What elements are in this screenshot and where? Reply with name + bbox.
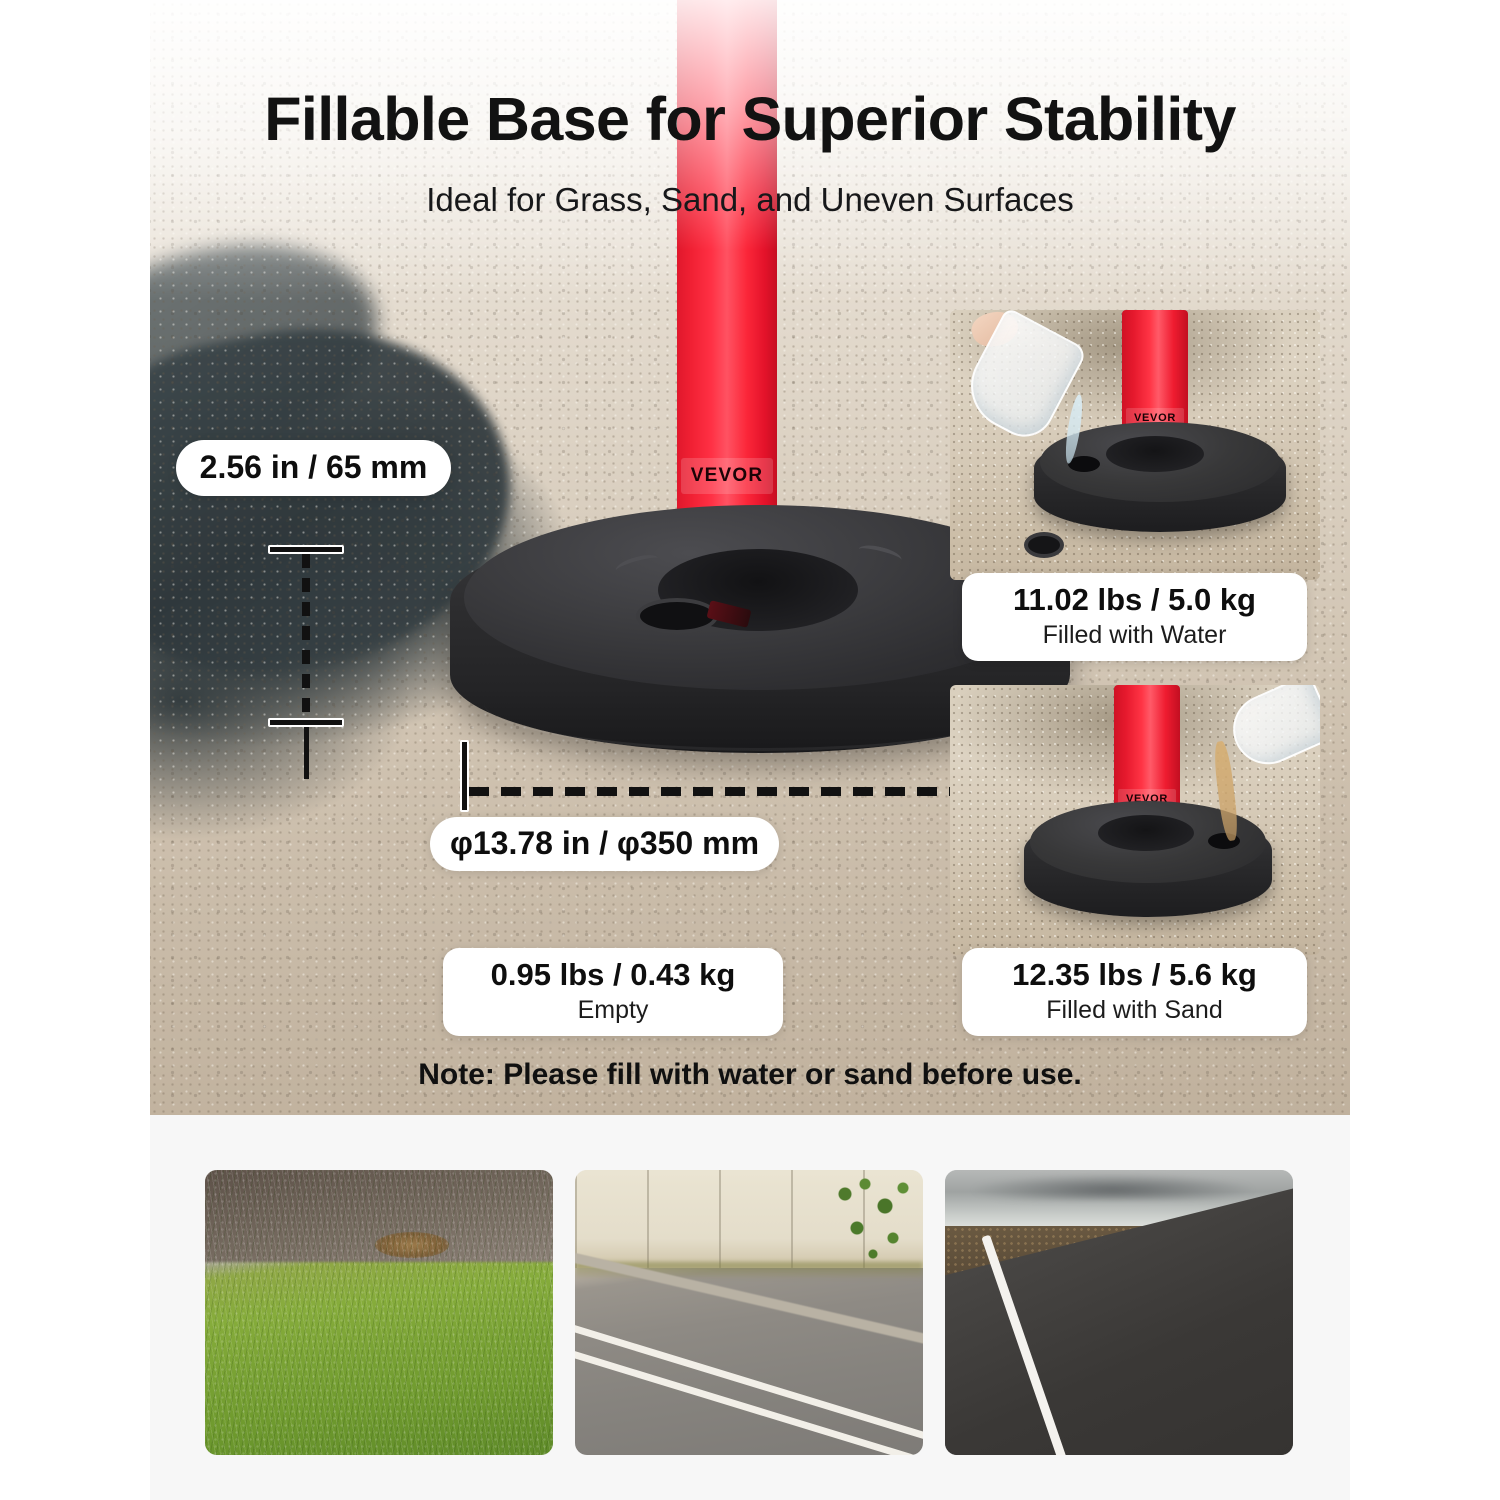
thumbnail-grass-shoulder — [205, 1170, 553, 1262]
callout-diameter: φ13.78 in / φ350 mm — [430, 817, 779, 871]
callout-weight-sand: 12.35 lbs / 5.6 kg Filled with Sand — [962, 948, 1307, 1036]
diameter-dimension-cap-left — [460, 740, 469, 812]
callout-weight-empty: 0.95 lbs / 0.43 kg Empty — [443, 948, 783, 1036]
callout-weight-water: 11.02 lbs / 5.0 kg Filled with Water — [962, 573, 1307, 661]
thumbnail-road-line-outer — [575, 1319, 923, 1455]
vevor-logo: VEVOR — [681, 458, 773, 494]
callout-weight-sand-value: 12.35 lbs / 5.6 kg — [1012, 959, 1257, 992]
hero-subtitle: Ideal for Grass, Sand, and Uneven Surfac… — [150, 181, 1350, 219]
hero-note: Note: Please fill with water or sand bef… — [150, 1058, 1350, 1092]
thumbnail-cloud — [973, 1174, 1253, 1200]
thumbnail-roadside-wall[interactable] — [575, 1170, 923, 1455]
inset-sand-post-socket — [1098, 815, 1194, 851]
callout-weight-water-value: 11.02 lbs / 5.0 kg — [1013, 584, 1256, 617]
thumbnail-road-line-inner — [575, 1345, 923, 1455]
inset-water-removed-cap — [1024, 532, 1064, 558]
inset-water-post-socket — [1106, 436, 1204, 472]
height-dimension-line — [268, 545, 344, 727]
product-infographic: VEVOR Fillable Base for Superior — [0, 0, 1500, 1500]
thumbnail-grass[interactable] — [205, 1170, 553, 1455]
thumbnail-grass-leaf-pile — [375, 1232, 449, 1258]
inset-photo-water: VEVOR — [950, 310, 1320, 580]
height-dimension-tail — [304, 727, 309, 779]
use-case-gallery — [150, 1115, 1350, 1500]
callout-height-value: 2.56 in / 65 mm — [200, 451, 428, 485]
callout-weight-empty-value: 0.95 lbs / 0.43 kg — [491, 959, 736, 992]
callout-weight-water-caption: Filled with Water — [1043, 621, 1227, 650]
callout-weight-sand-caption: Filled with Sand — [1046, 996, 1222, 1025]
height-dimension-cap-top — [268, 545, 344, 554]
thumbnail-highway[interactable] — [945, 1170, 1293, 1455]
inset-photo-sand: VEVOR — [950, 685, 1320, 955]
callout-weight-empty-caption: Empty — [578, 996, 649, 1025]
hero-title: Fillable Base for Superior Stability — [150, 84, 1350, 154]
thumbnail-row — [205, 1170, 1295, 1455]
fill-port-cap — [636, 598, 718, 634]
hero-image-panel: VEVOR Fillable Base for Superior — [150, 0, 1350, 1115]
thumbnail-ivy — [827, 1172, 923, 1282]
callout-height: 2.56 in / 65 mm — [176, 440, 451, 496]
height-dimension-cap-bottom — [268, 718, 344, 727]
height-dimension-dashes — [302, 554, 310, 718]
callout-diameter-value: φ13.78 in / φ350 mm — [450, 827, 759, 861]
inset-water-fill-port — [1068, 456, 1100, 472]
